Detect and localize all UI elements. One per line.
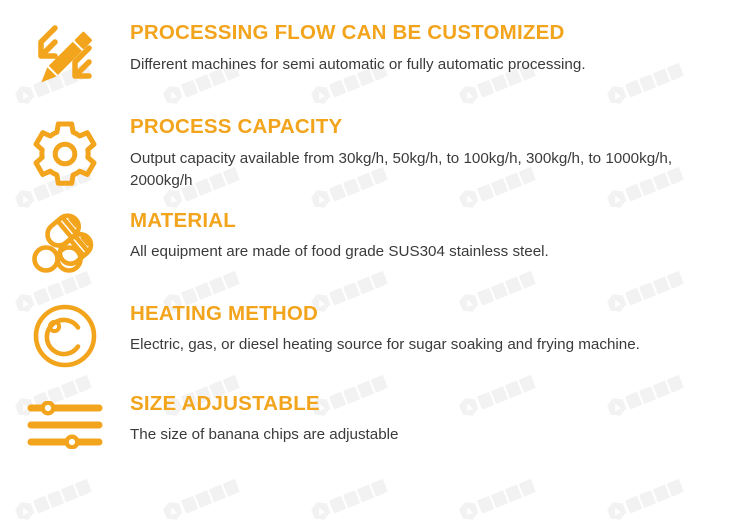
celsius-icon [0,303,130,369]
feature-title: PROCESSING FLOW CAN BE CUSTOMIZED [130,22,732,45]
feature-title: HEATING METHOD [130,303,732,326]
feature-description: Different machines for semi automatic or… [130,54,732,76]
feature-description: Output capacity available from 30kg/h, 5… [130,148,732,192]
feature-text: HEATING METHOD Electric, gas, or diesel … [130,303,750,357]
stacked-logs-icon [0,210,130,278]
feature-title: PROCESS CAPACITY [130,116,732,139]
feature-row: PROCESS CAPACITY Output capacity availab… [0,94,750,192]
feature-title: SIZE ADJUSTABLE [130,393,732,416]
feature-text: MATERIAL All equipment are made of food … [130,210,750,264]
feature-row: MATERIAL All equipment are made of food … [0,192,750,278]
feature-row: SIZE ADJUSTABLE The size of banana chips… [0,369,750,449]
feature-row: HEATING METHOD Electric, gas, or diesel … [0,278,750,369]
feature-title: MATERIAL [130,210,732,233]
feature-description: The size of banana chips are adjustable [130,424,732,446]
feature-list: PROCESSING FLOW CAN BE CUSTOMIZED Differ… [0,0,750,449]
feature-text: PROCESSING FLOW CAN BE CUSTOMIZED Differ… [130,22,750,76]
pencil-ruler-icon [0,22,130,94]
feature-text: SIZE ADJUSTABLE The size of banana chips… [130,393,750,447]
feature-row: PROCESSING FLOW CAN BE CUSTOMIZED Differ… [0,0,750,94]
feature-description: All equipment are made of food grade SUS… [130,241,732,263]
feature-text: PROCESS CAPACITY Output capacity availab… [130,116,750,192]
gear-icon [0,116,130,190]
sliders-icon [0,393,130,449]
feature-description: Electric, gas, or diesel heating source … [130,334,732,356]
